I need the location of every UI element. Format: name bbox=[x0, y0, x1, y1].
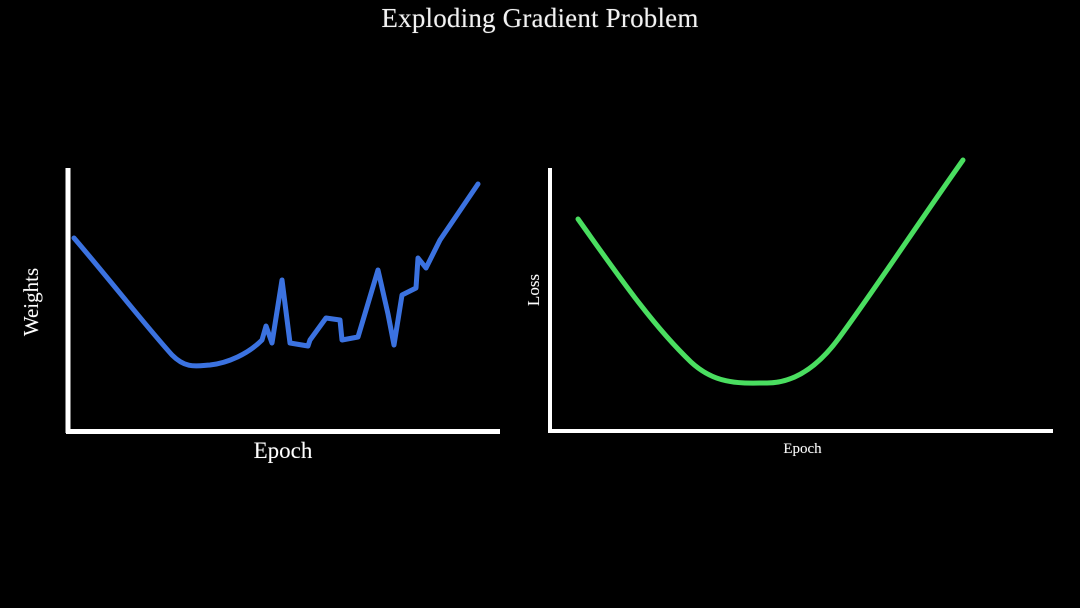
loss-y-axis-label: Loss bbox=[524, 255, 544, 325]
chart-weights: Weights Epoch bbox=[0, 140, 520, 490]
slide-root: Exploding Gradient Problem Weights Epoch… bbox=[0, 0, 1080, 608]
loss-x-axis-label: Epoch bbox=[548, 440, 1057, 459]
weights-line-series bbox=[74, 184, 478, 366]
page-title: Exploding Gradient Problem bbox=[0, 0, 1080, 36]
weights-y-axis-label: Weights bbox=[19, 252, 43, 352]
loss-plot-svg bbox=[505, 140, 1080, 490]
weights-x-axis-label: Epoch bbox=[66, 437, 500, 465]
chart-loss: Loss Epoch bbox=[505, 140, 1080, 490]
loss-line-series bbox=[578, 160, 963, 383]
